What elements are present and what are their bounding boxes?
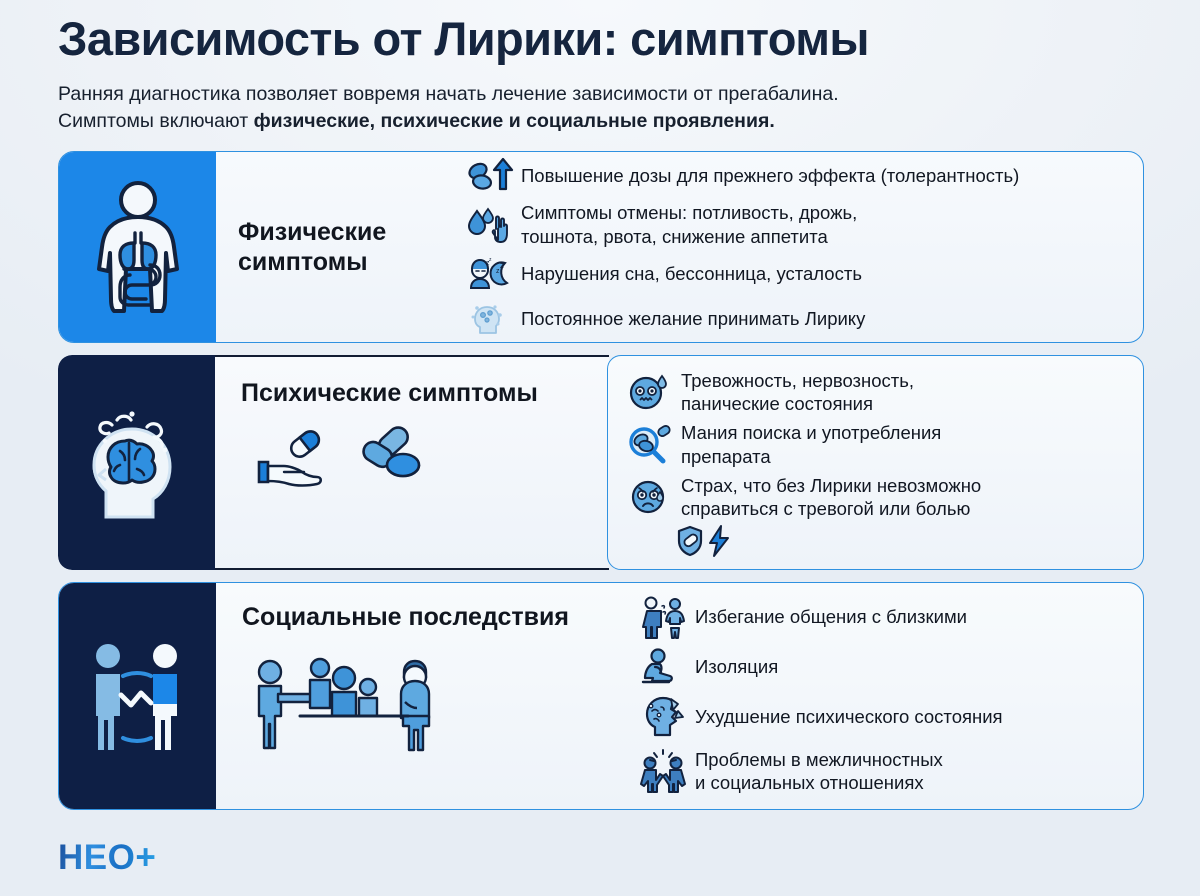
two-people-handshake-icon <box>83 638 193 754</box>
list-item: Изоляция <box>640 648 1129 686</box>
card-heading-physical: Физические симптомы <box>238 217 386 278</box>
list-item: Мания поиска и употребления препарата <box>626 421 1129 468</box>
list-item: Тревожность, нервозность, панические сос… <box>626 369 1129 416</box>
pills-up-arrow-icon <box>466 156 512 194</box>
pills-cluster-icon <box>361 429 425 485</box>
panel-social <box>59 583 216 809</box>
head-broken-mind-icon <box>640 698 686 736</box>
head-brain-icon <box>85 403 189 523</box>
magnifier-pills-icon <box>626 426 672 464</box>
list-item-text: Симптомы отмены: потливость, дрожь, тошн… <box>521 201 857 248</box>
conflict-two-people-icon <box>640 752 686 790</box>
worried-crying-face-icon <box>626 478 672 516</box>
subtitle-regular-text: Симптомы включают <box>58 110 254 132</box>
hand-with-capsule-icon <box>253 426 335 488</box>
subtitle-line-1: Ранняя диагностика позволяет вовремя нач… <box>58 81 1144 109</box>
list-item-text: Постоянное желание принимать Лирику <box>521 307 865 330</box>
list-item-text: Страх, что без Лирики невозможно справит… <box>681 474 981 521</box>
craving-head-icon <box>466 300 512 338</box>
list-item-text: Повышение дозы для прежнего эффекта (тол… <box>521 164 1019 187</box>
list-item: Симптомы отмены: потливость, дрожь, тошн… <box>466 201 1131 248</box>
list-item: z z z Z Нарушения сна, бессонница, устал… <box>466 255 1131 293</box>
lightning-bolt-icon <box>708 525 730 557</box>
card-heading-social: Социальные последствия <box>242 603 640 632</box>
card-mental-symptoms: Психические симптомы <box>58 355 1144 570</box>
card-physical-symptoms: Физические симптомы Повышение дозы для п… <box>58 151 1144 343</box>
subtitle-bold-text: физические, психические и социальные про… <box>254 110 775 132</box>
list-item-text: Ухудшение психического состояния <box>695 705 1003 728</box>
panel-physical <box>59 152 216 342</box>
header: Зависимость от Лирики: симптомы Ранняя д… <box>0 0 1200 136</box>
human-body-organs-icon <box>90 179 186 315</box>
man-woman-avoidance-icon <box>640 598 686 636</box>
list-item-text: Нарушения сна, бессонница, усталость <box>521 262 862 285</box>
list-item-text: Избегание общения с близкими <box>695 605 967 628</box>
subtitle-line-2: Симптомы включают физические, психически… <box>58 108 1144 136</box>
left-block-mental: Психические симптомы <box>58 355 609 570</box>
list-item: Постоянное желание принимать Лирику <box>466 300 1131 338</box>
list-item-text: Проблемы в межличностных и социальных от… <box>695 748 943 795</box>
extra-icons-mental <box>626 525 1129 557</box>
svg-text:z: z <box>489 257 492 263</box>
panel-mental <box>58 355 215 570</box>
brand-logo: НЕО+ <box>58 838 156 878</box>
list-social: Избегание общения с близкими Изоляция <box>640 583 1143 809</box>
list-item-text: Мания поиска и употребления препарата <box>681 421 941 468</box>
heading-wrap-physical: Физические симптомы <box>216 152 466 342</box>
mid-social: Социальные последствия <box>216 583 640 809</box>
list-item-text: Тревожность, нервозность, панические сос… <box>681 369 914 416</box>
list-item-text: Изоляция <box>695 655 778 678</box>
list-item: Страх, что без Лирики невозможно справит… <box>626 474 1129 521</box>
svg-text:Z: Z <box>500 264 504 270</box>
list-item: Повышение дозы для прежнего эффекта (тол… <box>466 156 1131 194</box>
shield-pill-icon <box>676 525 704 557</box>
cards-container: Физические симптомы Повышение дозы для п… <box>0 151 1200 810</box>
anxious-sweating-face-icon <box>626 373 672 411</box>
mid-mental: Психические симптомы <box>215 355 609 570</box>
list-item: Избегание общения с близкими <box>640 598 1129 636</box>
sweat-drops-trembling-hand-icon <box>466 206 512 244</box>
list-item: Ухудшение психического состояния <box>640 698 1129 736</box>
sleeping-face-moon-icon: z z z Z <box>466 255 512 293</box>
card-social-consequences: Социальные последствия <box>58 582 1144 810</box>
sitting-alone-icon <box>640 648 686 686</box>
page-subtitle: Ранняя диагностика позволяет вовремя нач… <box>58 81 1144 136</box>
list-item: Проблемы в межличностных и социальных от… <box>640 748 1129 795</box>
card-heading-mental: Психические симптомы <box>241 379 609 408</box>
list-mental: Тревожность, нервозность, панические сос… <box>607 355 1144 570</box>
page-title: Зависимость от Лирики: симптомы <box>58 14 1144 65</box>
mid-icons-mental <box>241 426 609 488</box>
list-physical: Повышение дозы для прежнего эффекта (тол… <box>466 152 1143 342</box>
group-of-people-isolation-icon <box>242 650 640 754</box>
